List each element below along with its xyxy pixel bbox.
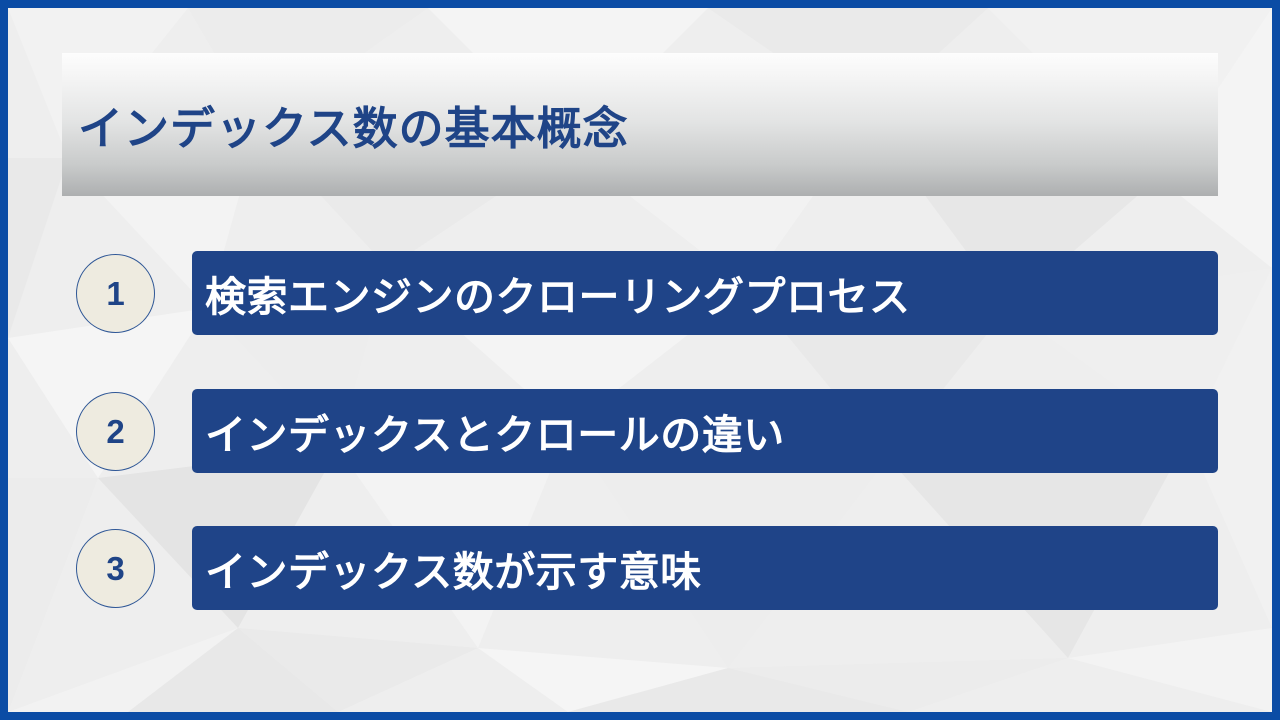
list-item[interactable]: 3 インデックス数が示す意味 [8,525,1272,611]
list-item-bar[interactable]: インデックスとクロールの違い [192,389,1218,473]
list-item[interactable]: 2 インデックスとクロールの違い [8,388,1272,474]
list-item-number-badge: 3 [76,529,155,608]
list-item-label: 検索エンジンのクローリングプロセス [205,263,911,323]
list-item-number-badge: 2 [76,392,155,471]
slide-frame: インデックス数の基本概念 1 検索エンジンのクローリングプロセス 2 インデック… [0,0,1280,720]
numbered-list: 1 検索エンジンのクローリングプロセス 2 インデックスとクロールの違い 3 イ… [8,8,1272,712]
slide-canvas: インデックス数の基本概念 1 検索エンジンのクローリングプロセス 2 インデック… [8,8,1272,712]
list-item-bar[interactable]: インデックス数が示す意味 [192,526,1218,610]
list-item-bar[interactable]: 検索エンジンのクローリングプロセス [192,251,1218,335]
list-item-label: インデックスとクロールの違い [205,401,785,461]
list-item-number-badge: 1 [76,254,155,333]
list-item-label: インデックス数が示す意味 [205,538,702,598]
list-item[interactable]: 1 検索エンジンのクローリングプロセス [8,250,1272,336]
